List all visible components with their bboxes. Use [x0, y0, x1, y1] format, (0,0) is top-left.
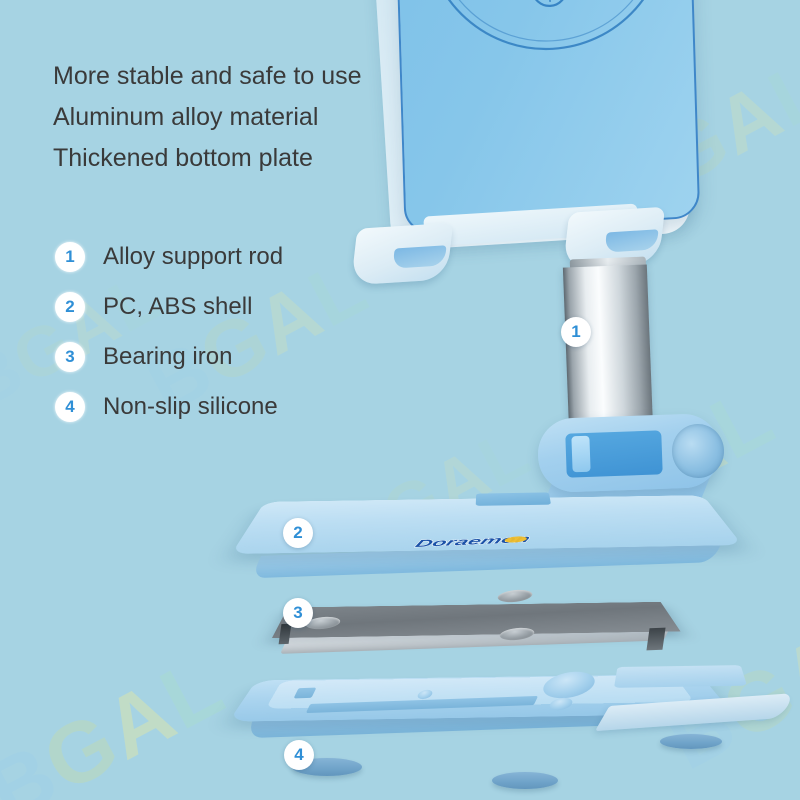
legend-item-pc-abs-shell: 2 PC, ABS shell: [55, 282, 283, 332]
hinge-end-cap: [671, 423, 725, 479]
infographic-canvas: BGAL BGAL BGAL BGAL -TYPE ROBOT FROM THE…: [0, 0, 800, 800]
headline-line-3: Thickened bottom plate: [53, 138, 413, 179]
legend-label-4: Non-slip silicone: [103, 393, 278, 421]
callout-badge-bearing-iron: 3: [283, 598, 313, 628]
legend-label-1: Alloy support rod: [103, 243, 283, 271]
feature-legend: 1 Alloy support rod 2 PC, ABS shell 3 Be…: [55, 232, 283, 432]
cradle-hook-pad-right: [604, 229, 658, 252]
bottom-tray-side-arm: [614, 665, 747, 688]
callout-badge-alloy-support-rod: 1: [561, 317, 591, 347]
legend-badge-4: 4: [55, 392, 85, 422]
bearing-plate-corner-right: [646, 628, 665, 651]
bearing-plate-dimple: [495, 589, 535, 602]
legend-item-bearing-iron: 3 Bearing iron: [55, 332, 283, 382]
headline-line-1: More stable and safe to use: [53, 56, 413, 97]
legend-badge-1: 1: [55, 242, 85, 272]
hinge-slot-highlight: [571, 436, 590, 473]
alloy-support-rod: [563, 264, 653, 433]
callout-badge-pc-abs-shell: 2: [283, 518, 313, 548]
legend-item-non-slip-silicone: 4 Non-slip silicone: [55, 382, 283, 432]
legend-badge-3: 3: [55, 342, 85, 372]
legend-item-alloy-support-rod: 1 Alloy support rod: [55, 232, 283, 282]
callout-badge-non-slip-silicone: 4: [284, 740, 314, 770]
non-slip-silicone-pad: [492, 772, 558, 789]
legend-label-2: PC, ABS shell: [103, 293, 252, 321]
headline-line-2: Aluminum alloy material: [53, 97, 413, 138]
legend-label-3: Bearing iron: [103, 343, 232, 371]
cradle-hook-pad-left: [392, 245, 446, 268]
middle-plate-slot: [476, 492, 551, 505]
headline-block: More stable and safe to use Aluminum all…: [53, 56, 413, 179]
non-slip-silicone-pad: [660, 734, 722, 749]
legend-badge-2: 2: [55, 292, 85, 322]
cradle-hook-left: [351, 223, 453, 285]
